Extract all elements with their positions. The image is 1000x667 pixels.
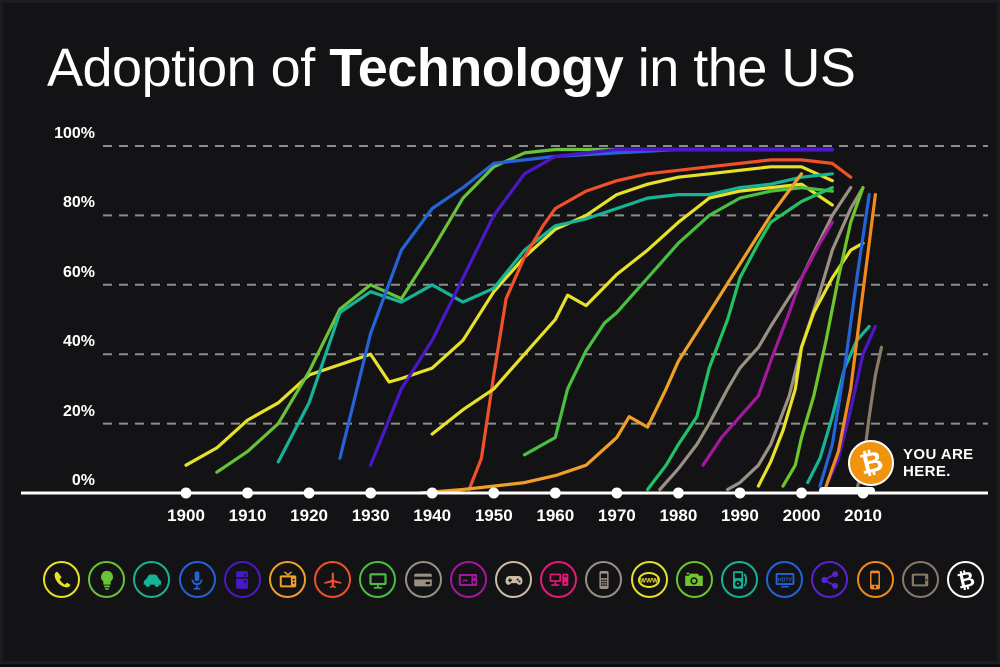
x-axis-tick [796, 488, 807, 499]
share-icon[interactable] [811, 561, 848, 598]
svg-text:WWW: WWW [640, 577, 659, 584]
series-line-credit-card [420, 174, 802, 493]
x-axis-tick [181, 488, 192, 499]
x-axis-label: 1920 [274, 506, 344, 526]
x-axis-label: 1950 [459, 506, 529, 526]
svg-text:₿: ₿ [954, 568, 976, 592]
microphone-icon[interactable] [179, 561, 216, 598]
x-axis-tick [550, 488, 561, 499]
badge-line-1: YOU ARE [903, 446, 974, 463]
x-axis-tick [365, 488, 376, 499]
color-tv-icon[interactable] [359, 561, 396, 598]
badge-line-2: HERE. [903, 463, 974, 480]
series-line-computer [703, 222, 832, 465]
series-lines [186, 150, 882, 494]
lightbulb-icon[interactable] [88, 561, 125, 598]
x-axis-label: 1910 [213, 506, 283, 526]
x-axis-label: 1990 [705, 506, 775, 526]
x-axis-tick [673, 488, 684, 499]
www-icon[interactable]: WWW [631, 561, 668, 598]
infographic-root: Adoption of Technology in the US 0%20%40… [0, 0, 1000, 664]
now-marker [819, 487, 875, 494]
smartphone-icon[interactable] [857, 561, 894, 598]
y-axis-label: 0% [21, 472, 95, 490]
bitcoin-icon: ₿ [848, 440, 894, 486]
x-axis-label: 2000 [767, 506, 837, 526]
hdtv-icon[interactable]: HDTV [766, 561, 803, 598]
x-axis-tick [242, 488, 253, 499]
technology-icon-legend: WWWHDTV₿ [3, 561, 1000, 611]
bitcoin-icon[interactable]: ₿ [947, 561, 984, 598]
badge-text: YOU ARE HERE. [903, 446, 974, 480]
svg-text:HDTV: HDTV [778, 577, 793, 583]
refrigerator-icon[interactable] [224, 561, 261, 598]
computer-icon[interactable] [540, 561, 577, 598]
telephone-icon[interactable] [43, 561, 80, 598]
series-line-television [469, 160, 851, 490]
tablet-icon[interactable] [902, 561, 939, 598]
x-axis-tick [488, 488, 499, 499]
tv-icon[interactable] [269, 561, 306, 598]
y-axis-label: 60% [21, 264, 95, 282]
series-line-refrigerator [371, 150, 833, 466]
x-axis-label: 1970 [582, 506, 652, 526]
x-axis-tick [611, 488, 622, 499]
x-axis-label: 1940 [397, 506, 467, 526]
gamepad-icon[interactable] [495, 561, 532, 598]
mp3-icon[interactable] [721, 561, 758, 598]
car-icon[interactable] [133, 561, 170, 598]
x-axis-label: 1900 [151, 506, 221, 526]
y-axis-label: 100% [21, 125, 95, 143]
y-axis-label: 40% [21, 333, 95, 351]
credit-card-icon[interactable] [405, 561, 442, 598]
x-axis-tick [304, 488, 315, 499]
x-axis-tick [734, 488, 745, 499]
airplane-icon[interactable] [314, 561, 351, 598]
y-axis-label: 80% [21, 194, 95, 212]
microwave-icon[interactable] [450, 561, 487, 598]
cellphone-icon[interactable] [585, 561, 622, 598]
x-axis-label: 1980 [643, 506, 713, 526]
x-axis-label: 2010 [828, 506, 898, 526]
camera-icon[interactable] [676, 561, 713, 598]
x-axis-tick [427, 488, 438, 499]
y-axis-label: 20% [21, 403, 95, 421]
x-axis-label: 1930 [336, 506, 406, 526]
you-are-here-badge: ₿ YOU ARE HERE. [848, 440, 974, 486]
x-axis-label: 1960 [520, 506, 590, 526]
